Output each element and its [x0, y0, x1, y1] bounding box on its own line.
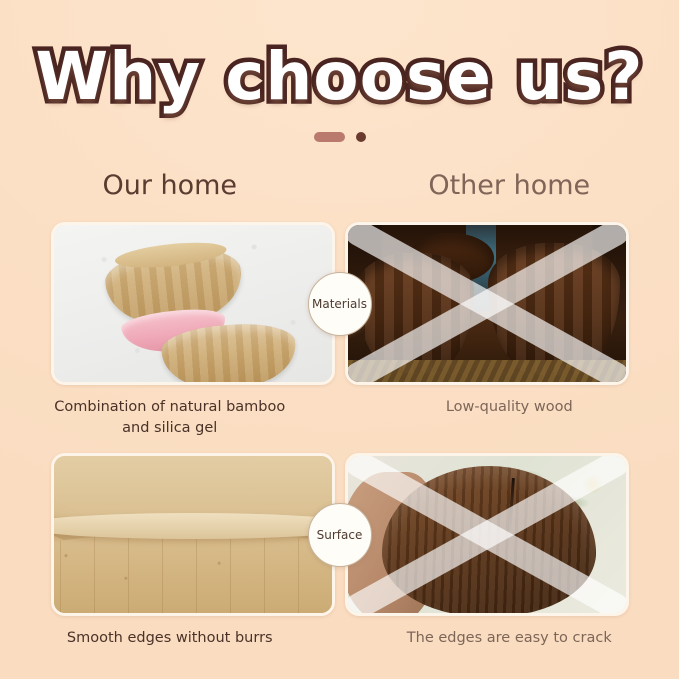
comparison-row-materials: Materials Combination of natural bamboo …	[0, 222, 679, 439]
caption-ours-surface: Smooth edges without burrs	[0, 628, 340, 649]
pagination-inactive-dot[interactable]	[356, 132, 366, 142]
card-ours-surface	[51, 453, 335, 616]
badge-materials: Materials	[308, 272, 372, 336]
card-theirs-materials	[345, 222, 629, 385]
page-title: Why choose us?	[35, 44, 643, 110]
card-pair: Surface	[0, 453, 679, 616]
card-theirs-surface	[345, 453, 629, 616]
caption-ours-materials: Combination of natural bamboo and silica…	[0, 397, 340, 439]
column-headings: Our home Other home	[0, 170, 679, 201]
photo-bamboo-bowls	[54, 225, 332, 382]
photo-cracked-bowl	[348, 456, 626, 613]
card-pair: Materials	[0, 222, 679, 385]
dark-bowl-left	[356, 253, 474, 373]
column-heading-ours: Our home	[0, 170, 340, 201]
column-heading-theirs: Other home	[340, 170, 679, 201]
card-ours-materials	[51, 222, 335, 385]
comparison-poster: Why choose us? Our home Other home	[0, 0, 679, 679]
caption-theirs-surface: The edges are easy to crack	[340, 628, 679, 649]
pagination-active-pill[interactable]	[314, 132, 345, 142]
title-container: Why choose us?	[0, 44, 679, 110]
bowl-outer-wall	[51, 535, 335, 617]
caption-pair: Combination of natural bamboo and silica…	[0, 397, 679, 439]
straw-mat	[348, 360, 626, 382]
caption-pair: Smooth edges without burrs The edges are…	[0, 628, 679, 649]
pagination-indicator	[0, 132, 679, 142]
bowl-rim-edge	[51, 513, 335, 539]
photo-bamboo-rim	[54, 456, 332, 613]
photo-dark-wooden-bowls	[348, 225, 626, 382]
dark-bowl-right	[488, 243, 620, 375]
caption-theirs-materials: Low-quality wood	[340, 397, 679, 439]
badge-surface: Surface	[308, 503, 372, 567]
crack-line	[508, 478, 515, 532]
comparison-row-surface: Surface Smooth edges without burrs The e…	[0, 453, 679, 649]
